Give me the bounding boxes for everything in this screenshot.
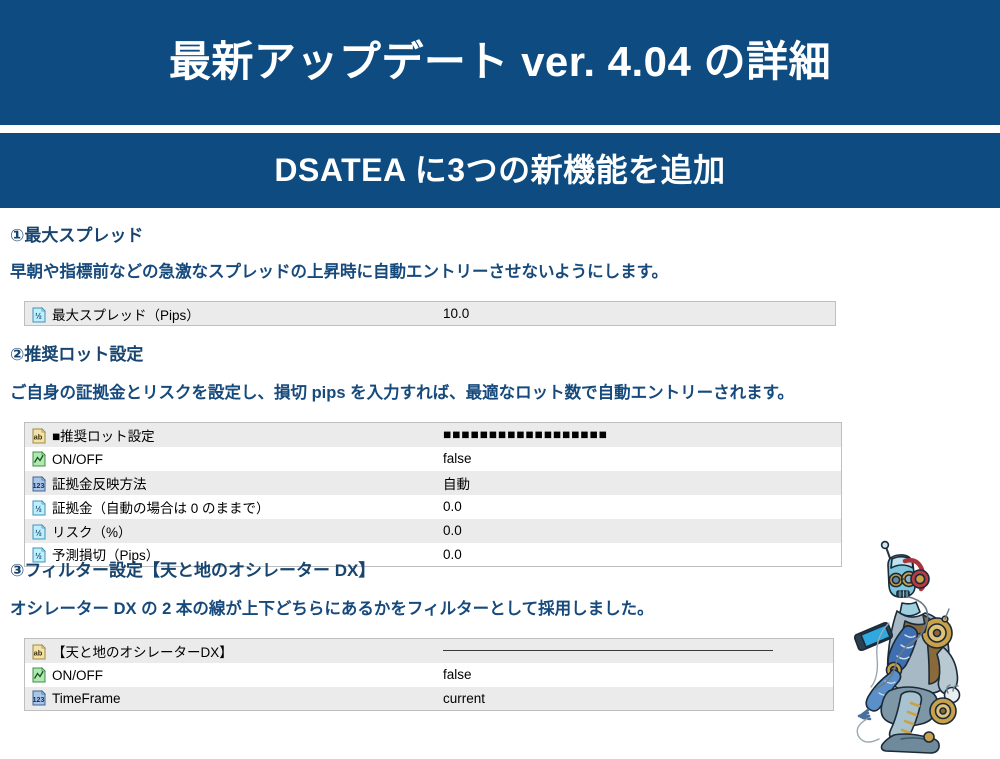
title-band: 最新アップデート ver. 4.04 の詳細 bbox=[0, 0, 1000, 125]
row-name-text: 最大スプレッド（Pips） bbox=[52, 308, 200, 323]
properties-table-1: ½ 最大スプレッド（Pips） 10.0 bbox=[24, 301, 836, 326]
svg-text:ab: ab bbox=[34, 432, 43, 441]
green-chart-icon bbox=[31, 667, 47, 683]
row-value-cell[interactable]: 10.0 bbox=[437, 302, 836, 326]
section-3-heading: ③フィルター設定【天と地のオシレーター DX】 bbox=[10, 561, 375, 581]
row-value-cell[interactable]: current bbox=[437, 687, 834, 711]
section-1-lead: 早朝や指標前などの急激なスプレッドの上昇時に自動エントリーさせないようにします。 bbox=[10, 263, 668, 283]
section-2-lead: ご自身の証拠金とリスクを設定し、損切 pips を入力すれば、最適なロット数で自… bbox=[10, 384, 794, 404]
half-fraction-icon: ½ bbox=[31, 500, 47, 516]
row-value-cell[interactable]: ■■■■■■■■■■■■■■■■■■ bbox=[437, 423, 842, 447]
row-name-cell: ON/OFF bbox=[25, 447, 438, 471]
section-max-spread: ①最大スプレッド 早朝や指標前などの急激なスプレッドの上昇時に自動エントリーさせ… bbox=[0, 208, 1000, 340]
row-value-cell[interactable]: 0.0 bbox=[437, 495, 842, 519]
row-value-cell[interactable]: false bbox=[437, 663, 834, 687]
row-name-text: ■推奨ロット設定 bbox=[52, 429, 155, 444]
table-row[interactable]: ab ■推奨ロット設定 ■■■■■■■■■■■■■■■■■■ bbox=[25, 423, 842, 447]
half-fraction-icon: ½ bbox=[31, 524, 47, 540]
horizontal-rule-value bbox=[443, 650, 773, 651]
svg-text:½: ½ bbox=[35, 552, 42, 561]
123-number-icon: 123 bbox=[31, 690, 47, 706]
section-filter-settings: ③フィルター設定【天と地のオシレーター DX】 オシレーター DX の 2 本の… bbox=[0, 562, 1000, 742]
row-name-text: 【天と地のオシレーターDX】 bbox=[52, 645, 233, 660]
table-row[interactable]: 123 TimeFrame current bbox=[25, 687, 834, 711]
page-title: 最新アップデート ver. 4.04 の詳細 bbox=[169, 39, 831, 85]
table-row[interactable]: ½ 証拠金（自動の場合は 0 のままで） 0.0 bbox=[25, 495, 842, 519]
row-name-cell: ½ 最大スプレッド（Pips） bbox=[25, 302, 438, 326]
row-name-cell: 123 証拠金反映方法 bbox=[25, 471, 438, 495]
row-name-text: リスク（%） bbox=[52, 525, 132, 540]
row-value-cell[interactable]: false bbox=[437, 447, 842, 471]
row-name-cell: 123 TimeFrame bbox=[25, 687, 438, 711]
row-name-cell: ON/OFF bbox=[25, 663, 438, 687]
row-value-cell[interactable] bbox=[437, 639, 834, 663]
row-value-cell[interactable]: 自動 bbox=[437, 471, 842, 495]
svg-text:123: 123 bbox=[33, 697, 45, 704]
table-row[interactable]: ½ リスク（%） 0.0 bbox=[25, 519, 842, 543]
half-fraction-icon: ½ bbox=[31, 307, 47, 323]
row-name-text: ON/OFF bbox=[52, 452, 103, 467]
ab-string-icon: ab bbox=[31, 644, 47, 660]
table-row[interactable]: 123 証拠金反映方法 自動 bbox=[25, 471, 842, 495]
svg-text:123: 123 bbox=[33, 482, 45, 489]
subtitle-band: DSATEA に3つの新機能を追加 bbox=[0, 133, 1000, 208]
content-area: ①最大スプレッド 早朝や指標前などの急激なスプレッドの上昇時に自動エントリーさせ… bbox=[0, 208, 1000, 742]
ab-string-icon: ab bbox=[31, 428, 47, 444]
table-row[interactable]: ½ 最大スプレッド（Pips） 10.0 bbox=[25, 302, 836, 326]
row-name-cell: ab ■推奨ロット設定 bbox=[25, 423, 438, 447]
row-name-cell: ½ リスク（%） bbox=[25, 519, 438, 543]
section-3-lead: オシレーター DX の 2 本の線が上下どちらにあるかをフィルターとして採用しま… bbox=[10, 600, 654, 620]
table-row[interactable]: ON/OFF false bbox=[25, 663, 834, 687]
section-1-heading: ①最大スプレッド bbox=[10, 226, 143, 246]
table-row[interactable]: ab 【天と地のオシレーターDX】 bbox=[25, 639, 834, 663]
section-recommended-lot: ②推奨ロット設定 ご自身の証拠金とリスクを設定し、損切 pips を入力すれば、… bbox=[0, 340, 1000, 562]
svg-text:½: ½ bbox=[35, 528, 42, 537]
row-name-text: 証拠金（自動の場合は 0 のままで） bbox=[52, 501, 270, 516]
row-name-text: TimeFrame bbox=[52, 691, 121, 706]
properties-table-2: ab ■推奨ロット設定 ■■■■■■■■■■■■■■■■■■ bbox=[24, 422, 842, 567]
svg-text:ab: ab bbox=[34, 648, 43, 657]
page-subtitle: DSATEA に3つの新機能を追加 bbox=[274, 153, 725, 188]
svg-text:½: ½ bbox=[35, 311, 42, 320]
row-name-cell: ½ 証拠金（自動の場合は 0 のままで） bbox=[25, 495, 438, 519]
row-name-text: ON/OFF bbox=[52, 668, 103, 683]
properties-table-3: ab 【天と地のオシレーターDX】 bbox=[24, 638, 834, 711]
svg-text:½: ½ bbox=[35, 504, 42, 513]
section-2-heading: ②推奨ロット設定 bbox=[10, 345, 143, 365]
123-number-icon: 123 bbox=[31, 476, 47, 492]
green-chart-icon bbox=[31, 451, 47, 467]
row-name-text: 証拠金反映方法 bbox=[52, 477, 147, 492]
row-value-cell[interactable]: 0.0 bbox=[437, 519, 842, 543]
table-row[interactable]: ON/OFF false bbox=[25, 447, 842, 471]
row-name-cell: ab 【天と地のオシレーターDX】 bbox=[25, 639, 438, 663]
